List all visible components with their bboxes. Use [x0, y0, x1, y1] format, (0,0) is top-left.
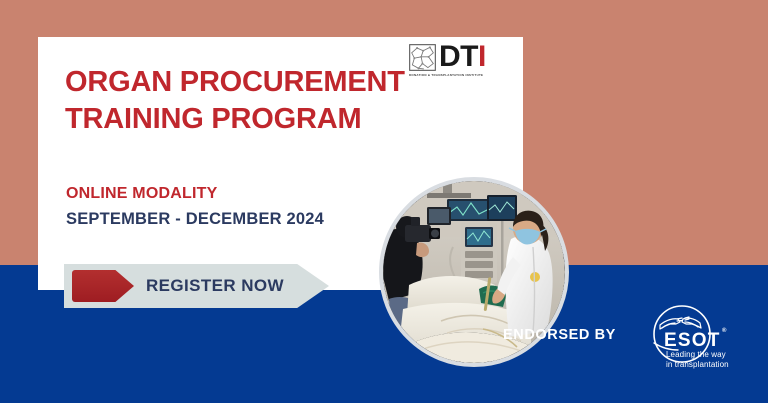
- register-now-label: REGISTER NOW: [146, 264, 284, 308]
- page-title: ORGAN PROCUREMENT TRAINING PROGRAM: [65, 64, 465, 138]
- esot-tagline: Leading the way in transplantation: [666, 350, 729, 370]
- esot-logo: ESOT ® Leading the way in transplantatio…: [636, 303, 748, 371]
- esot-wordmark: ESOT: [664, 330, 721, 352]
- esot-tagline-line-2: in transplantation: [666, 360, 729, 369]
- register-now-button[interactable]: REGISTER NOW: [64, 264, 329, 308]
- dti-letter-i: I: [478, 40, 486, 73]
- promotional-banner: DTI DONATION & TRANSPLANTATION INSTITUTE…: [0, 0, 768, 403]
- date-range-label: SEPTEMBER - DECEMBER 2024: [66, 210, 324, 229]
- modality-label: ONLINE MODALITY: [66, 185, 217, 203]
- content-card: DTI DONATION & TRANSPLANTATION INSTITUTE…: [38, 37, 523, 290]
- headline-line-2: TRAINING PROGRAM: [65, 101, 465, 138]
- esot-tagline-line-1: Leading the way: [666, 350, 726, 359]
- endorsed-by-label: ENDORSED BY: [503, 327, 616, 343]
- headline-line-1: ORGAN PROCUREMENT: [65, 66, 405, 98]
- esot-registered-icon: ®: [722, 328, 726, 334]
